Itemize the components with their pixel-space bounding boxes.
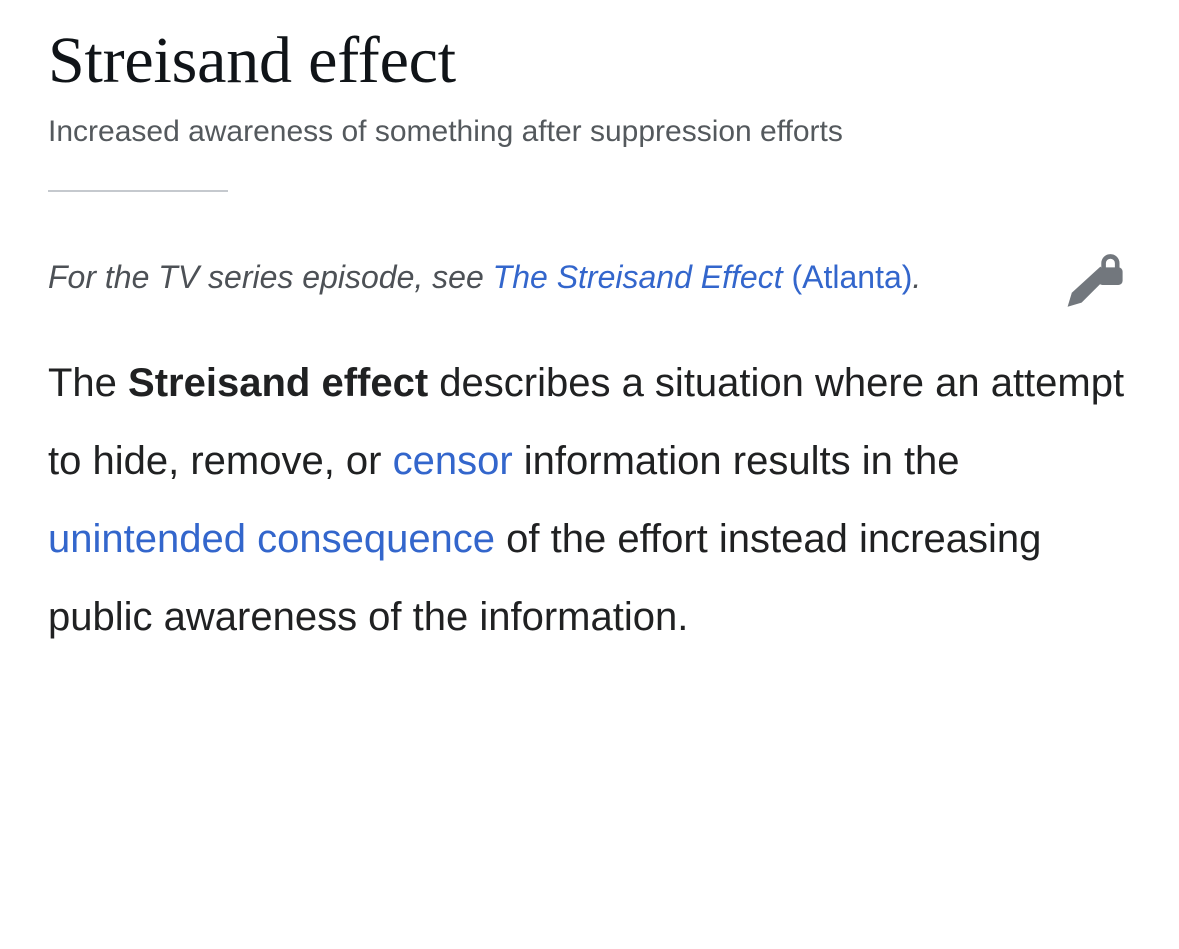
lead-bold-term: Streisand effect xyxy=(128,361,428,405)
link-unintended-consequence[interactable]: unintended consequence xyxy=(48,517,495,561)
lead-segment-3: information results in the xyxy=(513,439,960,483)
hatnote-link-the-streisand-effect[interactable]: The Streisand Effect xyxy=(493,259,792,295)
title-divider xyxy=(48,190,228,192)
lead-paragraph: The Streisand effect describes a situati… xyxy=(0,344,1176,656)
lead-segment-1: The xyxy=(48,361,128,405)
page-title: Streisand effect xyxy=(48,0,1131,98)
article-page: Streisand effect Increased awareness of … xyxy=(0,0,1179,949)
hatnote-link-atlanta-qualifier[interactable]: (Atlanta) xyxy=(791,259,912,295)
title-block: Streisand effect Increased awareness of … xyxy=(0,0,1179,152)
hatnote-section: For the TV series episode, see The Strei… xyxy=(0,244,1179,311)
hatnote-lead-text: For the TV series episode, see xyxy=(48,259,493,295)
hatnote-trailing-period: . xyxy=(912,259,921,295)
hatnote: For the TV series episode, see The Strei… xyxy=(48,244,948,311)
edit-lock-icon[interactable] xyxy=(1064,253,1126,309)
link-censor[interactable]: censor xyxy=(393,439,513,483)
page-subtitle: Increased awareness of something after s… xyxy=(48,112,848,152)
